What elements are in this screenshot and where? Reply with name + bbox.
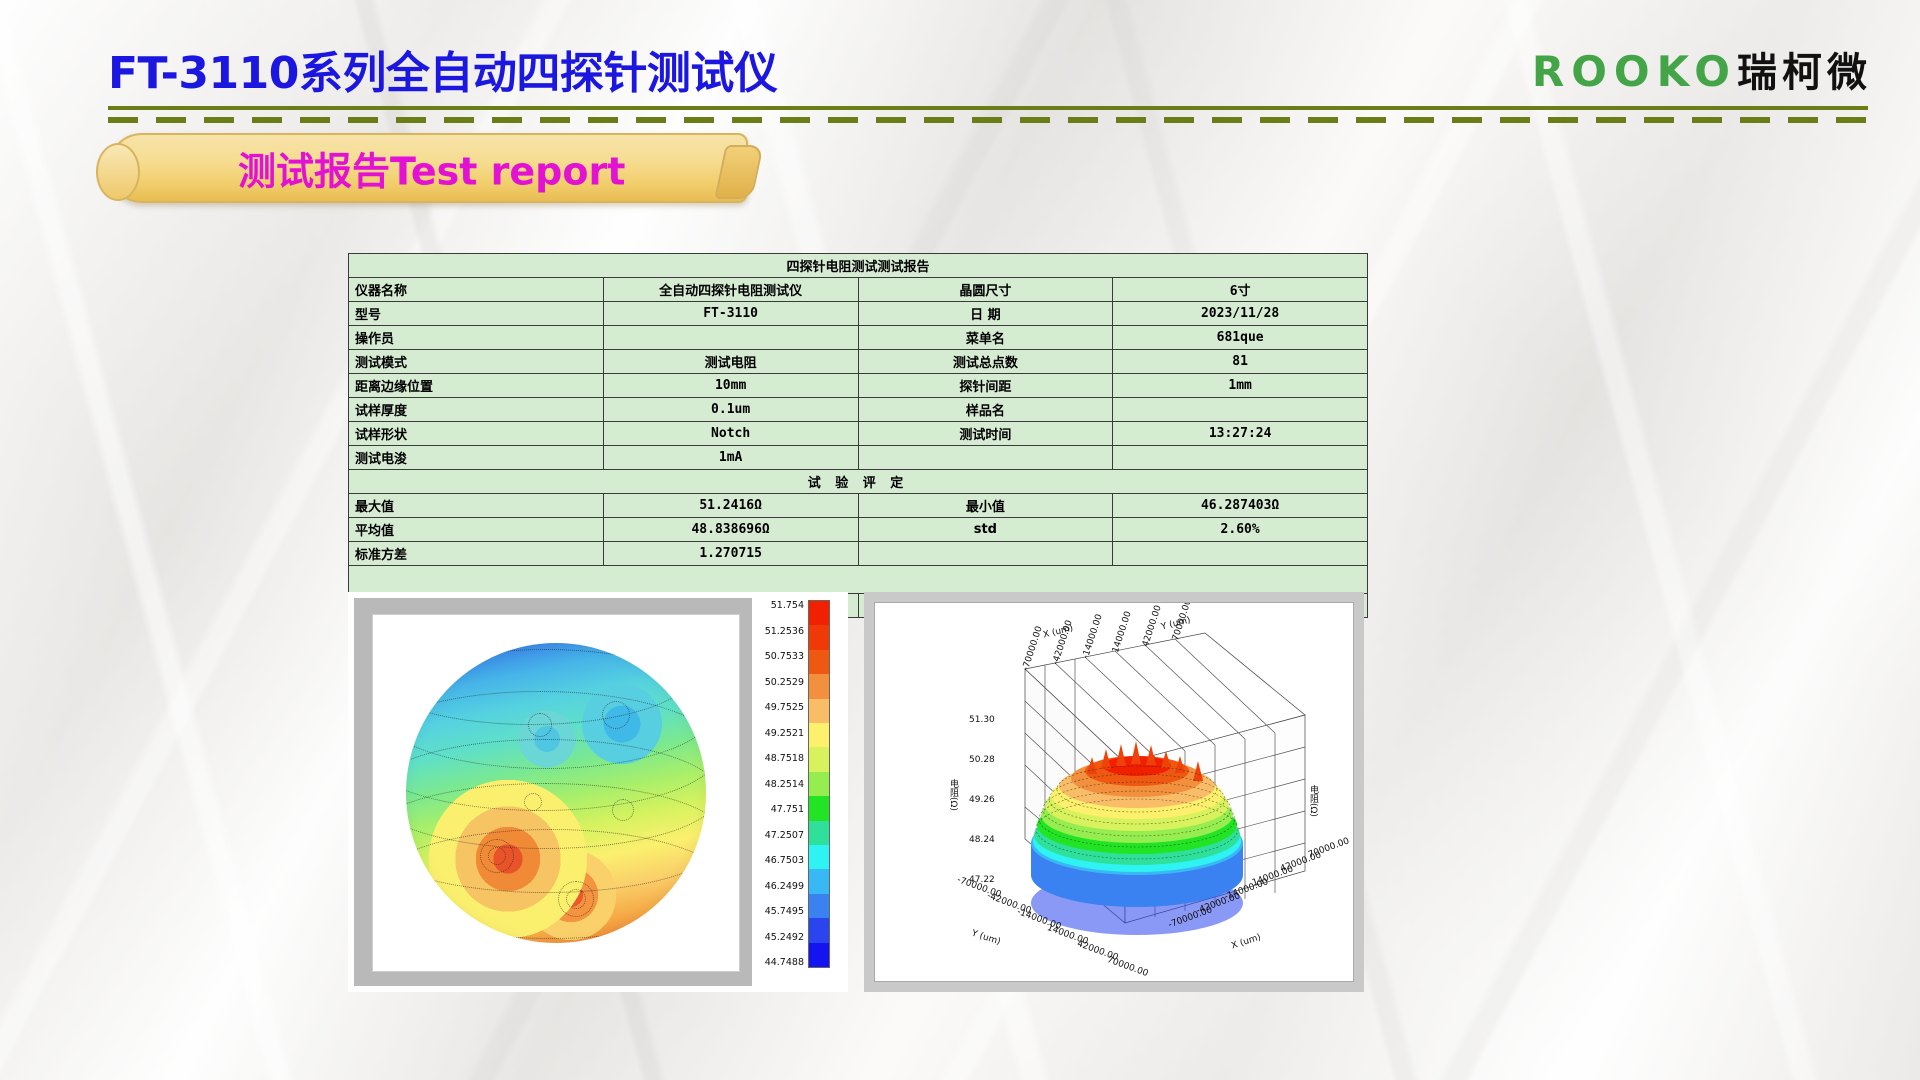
row-label2: 最小值 (858, 494, 1113, 518)
colorbar-swatch (809, 723, 829, 747)
colorbar-tick-label: 46.7503 (752, 855, 804, 866)
row-value: 1mA (603, 446, 858, 470)
row-label2: 样品名 (858, 398, 1113, 422)
row-label: 测试模式 (349, 350, 604, 374)
colorbar-swatch (809, 699, 829, 723)
table-row: 标准方差1.270715 (349, 542, 1368, 566)
colorbar-tick-label: 46.2499 (752, 881, 804, 892)
row-value2: 13:27:24 (1113, 422, 1368, 446)
brand-cjk-text: 瑞柯微 (1737, 40, 1872, 98)
colorbar-swatch (809, 674, 829, 698)
table-row: 最大值51.2416Ω最小值46.287403Ω (349, 494, 1368, 518)
row-label: 操作员 (349, 326, 604, 350)
row-value2: 2.60% (1113, 518, 1368, 542)
colorbar-tick-label: 50.7533 (752, 651, 804, 662)
spacer-cell (349, 566, 1368, 594)
colorbar-tick-label: 44.7488 (752, 957, 804, 968)
surface-plot-panel: X (um) Y (um) 电阻(Ω) 电阻(Ω) Y (um) X (um) … (864, 592, 1364, 992)
test-report-card: 四探针电阻测试测试报告仪器名称全自动四探针电阻测试仪晶圆尺寸6寸型号FT-311… (348, 253, 1368, 618)
colorbar-swatch (809, 821, 829, 845)
row-value: FT-3110 (603, 302, 858, 326)
colorbar-tick-label: 45.2492 (752, 932, 804, 943)
table-row: 仪器名称全自动四探针电阻测试仪晶圆尺寸6寸 (349, 278, 1368, 302)
colorbar-swatch (809, 650, 829, 674)
row-label: 距离边缘位置 (349, 374, 604, 398)
row-label2: 测试总点数 (858, 350, 1113, 374)
row-label: 型号 (349, 302, 604, 326)
row-value: 10mm (603, 374, 858, 398)
brand-logo: ROOKO 瑞柯微 (1532, 40, 1872, 98)
colorbar-swatch (809, 943, 829, 967)
colorbar-swatch (809, 894, 829, 918)
axis-right-z-label: 电阻(Ω) (1307, 785, 1320, 817)
row-value2 (1113, 542, 1368, 566)
row-label2: 测试时间 (858, 422, 1113, 446)
table-row: 测试模式测试电阻测试总点数81 (349, 350, 1368, 374)
colorbar-swatch (809, 845, 829, 869)
row-value (603, 326, 858, 350)
colorbar-labels: 51.75451.253650.753350.252949.752549.252… (752, 600, 808, 968)
colorbar-swatch (809, 918, 829, 942)
row-value: 1.270715 (603, 542, 858, 566)
row-value: 全自动四探针电阻测试仪 (603, 278, 858, 302)
row-value2 (1113, 398, 1368, 422)
colorbar-tick-label: 47.751 (752, 804, 804, 815)
colorbar-tick-label: 49.7525 (752, 702, 804, 713)
table-row: 测试电浚1mA (349, 446, 1368, 470)
header-rule-dashed (108, 117, 1868, 123)
section-row: 试 验 评 定 (349, 470, 1368, 494)
spacer-row (349, 566, 1368, 594)
wafer-heatmap (406, 643, 706, 943)
colorbar-swatch (809, 869, 829, 893)
colorbar-swatch (809, 625, 829, 649)
contour-plot-panel: 51.75451.253650.753350.252949.752549.252… (348, 592, 848, 992)
row-value: 51.2416Ω (603, 494, 858, 518)
row-value2: 681que (1113, 326, 1368, 350)
row-value: 测试电阻 (603, 350, 858, 374)
colorbar-tick-label: 48.2514 (752, 779, 804, 790)
header-rule-solid (108, 106, 1868, 110)
row-value2 (1113, 446, 1368, 470)
axis-left-z-label: 电阻(Ω) (947, 779, 960, 811)
colorbar-tick-label: 47.2507 (752, 830, 804, 841)
colorbar-swatch (809, 601, 829, 625)
row-label: 平均值 (349, 518, 604, 542)
row-value2: 81 (1113, 350, 1368, 374)
table-row: 平均值48.838696Ωstd2.60% (349, 518, 1368, 542)
colorbar: 51.75451.253650.753350.252949.752549.252… (752, 598, 842, 986)
report-title-row: 四探针电阻测试测试报告 (349, 254, 1368, 278)
report-title: 四探针电阻测试测试报告 (349, 254, 1368, 278)
row-value2: 6寸 (1113, 278, 1368, 302)
surface-plot-inner: X (um) Y (um) 电阻(Ω) 电阻(Ω) Y (um) X (um) … (874, 602, 1354, 982)
table-row: 操作员菜单名681que (349, 326, 1368, 350)
row-label2: 晶圆尺寸 (858, 278, 1113, 302)
contour-canvas (372, 614, 740, 972)
row-label: 仪器名称 (349, 278, 604, 302)
colorbar-tick-label: 51.2536 (752, 626, 804, 637)
table-row: 试样厚度0.1um样品名 (349, 398, 1368, 422)
colorbar-tick-label: 48.7518 (752, 753, 804, 764)
table-row: 型号FT-3110日 期2023/11/28 (349, 302, 1368, 326)
row-value2: 1mm (1113, 374, 1368, 398)
brand-latin-text: ROOKO (1532, 47, 1737, 96)
row-value: 0.1um (603, 398, 858, 422)
banner-title: 测试报告Test report (238, 141, 625, 196)
section-banner: 测试报告Test report (108, 133, 748, 203)
colorbar-tick-label: 45.7495 (752, 906, 804, 917)
row-label2: 探针间距 (858, 374, 1113, 398)
row-label2 (858, 542, 1113, 566)
row-label2: 菜单名 (858, 326, 1113, 350)
row-label: 试样厚度 (349, 398, 604, 422)
plots-row: 51.75451.253650.753350.252949.752549.252… (348, 592, 1368, 992)
axis-tick-label: 49.26 (969, 795, 995, 805)
axis-tick-label: 51.30 (969, 715, 995, 725)
colorbar-swatch (809, 796, 829, 820)
contour-stage (354, 598, 752, 986)
row-value: 48.838696Ω (603, 518, 858, 542)
table-row: 距离边缘位置10mm探针间距1mm (349, 374, 1368, 398)
colorbar-strip (808, 600, 830, 968)
colorbar-swatch (809, 772, 829, 796)
section-title: 试 验 评 定 (349, 470, 1368, 494)
colorbar-tick-label: 49.2521 (752, 728, 804, 739)
table-row: 试样形状Notch测试时间13:27:24 (349, 422, 1368, 446)
report-table: 四探针电阻测试测试报告仪器名称全自动四探针电阻测试仪晶圆尺寸6寸型号FT-311… (348, 253, 1368, 618)
contour-plot-inner: 51.75451.253650.753350.252949.752549.252… (354, 598, 842, 986)
axis-tick-label: 50.28 (969, 755, 995, 765)
colorbar-tick-label: 50.2529 (752, 677, 804, 688)
row-label: 标准方差 (349, 542, 604, 566)
row-label: 最大值 (349, 494, 604, 518)
row-label: 试样形状 (349, 422, 604, 446)
row-label2: std (858, 518, 1113, 542)
row-value: Notch (603, 422, 858, 446)
row-label2 (858, 446, 1113, 470)
page-title: FT-3110系列全自动四探针测试仪 (108, 37, 777, 101)
row-value2: 46.287403Ω (1113, 494, 1368, 518)
row-label: 测试电浚 (349, 446, 604, 470)
colorbar-tick-label: 51.754 (752, 600, 804, 611)
colorbar-swatch (809, 747, 829, 771)
slide-header: FT-3110系列全自动四探针测试仪 ROOKO 瑞柯微 (0, 0, 1920, 130)
axis-tick-label: 48.24 (969, 835, 995, 845)
row-label2: 日 期 (858, 302, 1113, 326)
row-value2: 2023/11/28 (1113, 302, 1368, 326)
